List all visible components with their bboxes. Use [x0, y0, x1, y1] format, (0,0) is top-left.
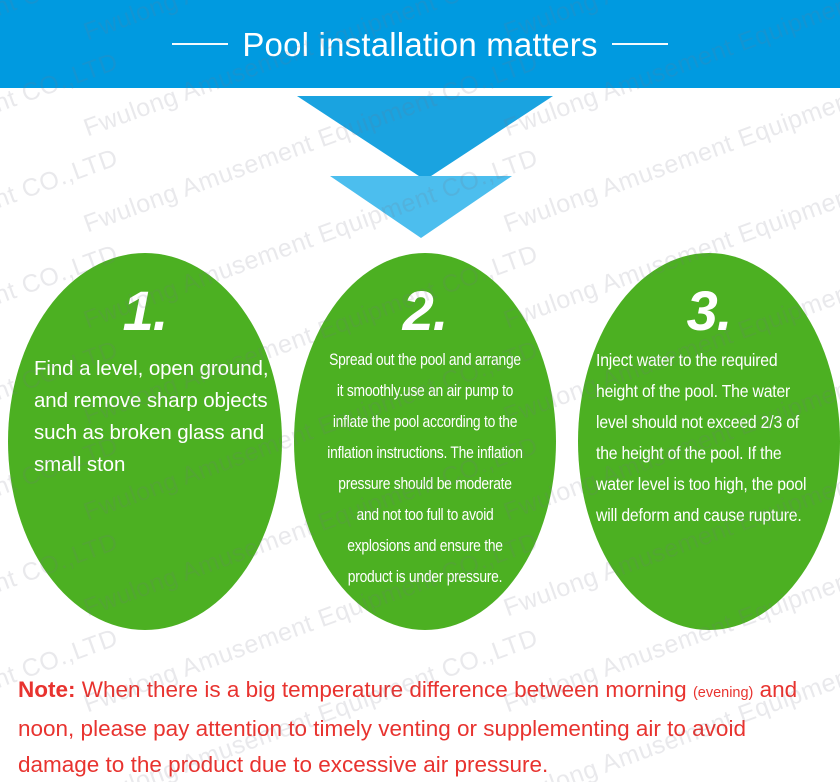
- step-text-2: Spread out the pool and arrange it smoot…: [327, 345, 524, 593]
- title-rule-left: [172, 43, 228, 45]
- step-number-1: 1.: [8, 283, 282, 339]
- header-inner: Pool installation matters: [0, 0, 840, 88]
- infographic-page: Pool installation matters 1. Find a leve…: [0, 0, 840, 782]
- step-ellipse-2: 2. Spread out the pool and arrange it sm…: [294, 253, 556, 630]
- triangle-down-icon-large: [297, 96, 553, 180]
- note-block: Note: When there is a big temperature di…: [18, 672, 826, 782]
- step-ellipse-3: 3. Inject water to the required height o…: [578, 253, 840, 630]
- title-rule-right: [612, 43, 668, 45]
- triangle-down-icon-small: [330, 176, 512, 238]
- note-paren: (evening): [693, 685, 753, 701]
- header-band: Pool installation matters: [0, 0, 840, 88]
- step-text-1: Find a level, open ground, and remove sh…: [34, 353, 270, 481]
- page-title: Pool installation matters: [242, 28, 597, 61]
- step-ellipse-1: 1. Find a level, open ground, and remove…: [8, 253, 282, 630]
- note-part-1: When there is a big temperature differen…: [76, 677, 693, 702]
- step-number-2: 2.: [294, 283, 556, 339]
- note-label: Note:: [18, 677, 76, 702]
- step-text-3: Inject water to the required height of t…: [596, 345, 819, 531]
- step-number-3: 3.: [578, 283, 840, 339]
